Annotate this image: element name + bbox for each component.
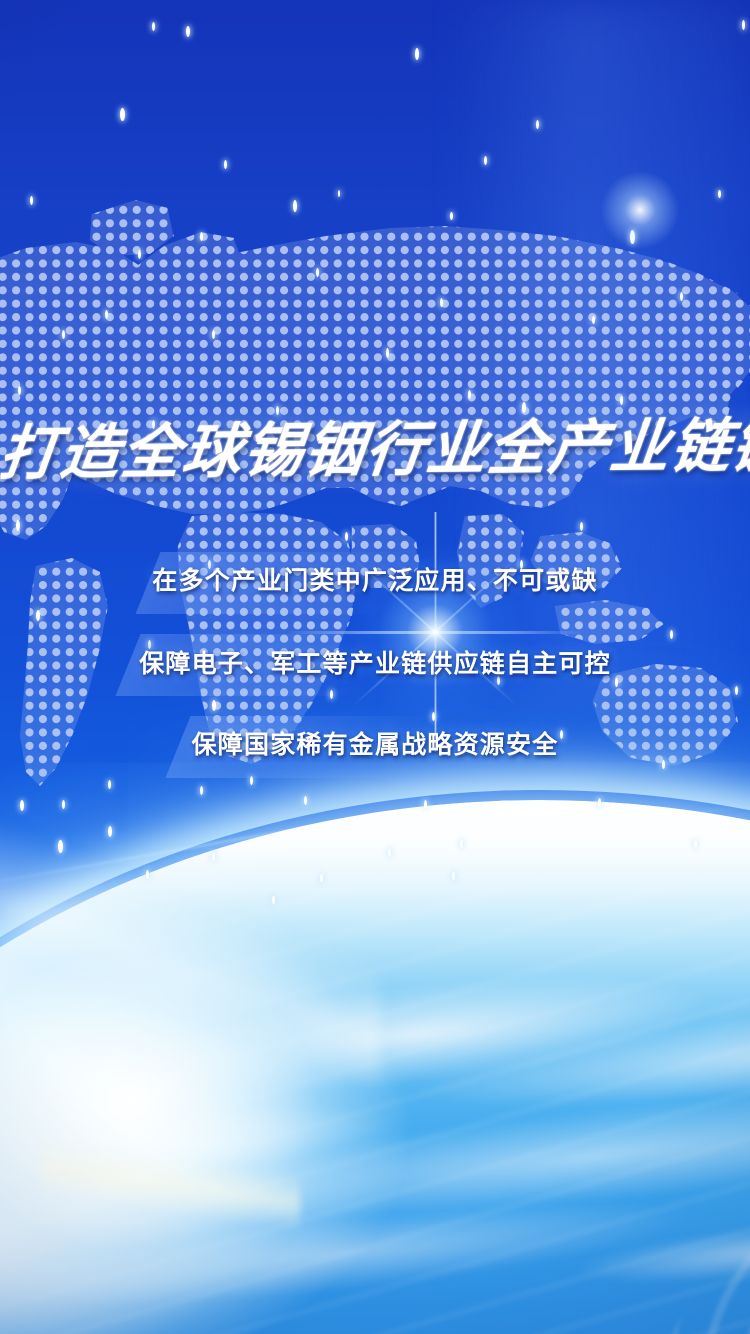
poster-headline: 打造全球锡铟行业全产业链链主	[0, 414, 750, 486]
poster-subtitle-2: 保障电子、军工等产业链供应链自主可控	[0, 644, 750, 680]
poster-subtitle-3: 保障国家稀有金属战略资源安全	[0, 725, 750, 761]
poster-subtitle-1: 在多个产业门类中广泛应用、不可或缺	[0, 561, 750, 597]
poster-canvas: 打造全球锡铟行业全产业链链主 在多个产业门类中广泛应用、不可或缺 保障电子、军工…	[0, 0, 750, 1334]
poster-content: 打造全球锡铟行业全产业链链主 在多个产业门类中广泛应用、不可或缺 保障电子、军工…	[0, 0, 750, 1334]
